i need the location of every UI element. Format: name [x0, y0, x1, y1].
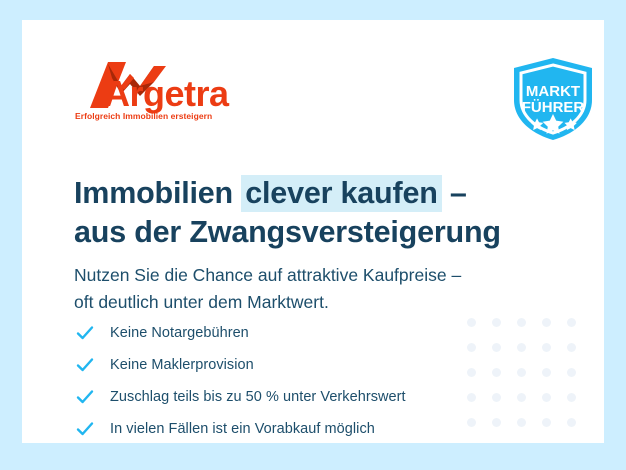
- subtitle: Nutzen Sie die Chance auf attraktive Kau…: [74, 262, 574, 316]
- check-icon: [74, 354, 96, 376]
- list-item: Keine Maklerprovision: [74, 350, 544, 380]
- grid-dot: [567, 343, 576, 352]
- promo-banner: Argetra Erfolgreich Immobilien ersteiger…: [0, 0, 626, 470]
- check-icon: [74, 386, 96, 408]
- logo-wordmark: Argetra: [104, 76, 229, 112]
- page-title: Immobilien clever kaufen – aus der Zwang…: [74, 174, 564, 251]
- grid-dot: [567, 393, 576, 402]
- subtitle-line-1: Nutzen Sie die Chance auf attraktive Kau…: [74, 262, 574, 289]
- list-item: Keine Notargebühren: [74, 318, 544, 348]
- subtitle-line-2: oft deutlich unter dem Marktwert.: [74, 289, 574, 316]
- headline-line-2: aus der Zwangsversteigerung: [74, 213, 564, 251]
- list-item: In vielen Fällen ist ein Vorabkauf mögli…: [74, 414, 544, 443]
- headline-highlight: clever kaufen: [241, 175, 441, 212]
- check-icon: [74, 418, 96, 440]
- list-item-label: Keine Notargebühren: [110, 325, 249, 341]
- grid-dot: [567, 418, 576, 427]
- argetra-logo[interactable]: Argetra Erfolgreich Immobilien ersteiger…: [74, 60, 274, 128]
- badge-line-1: MARKT: [526, 83, 580, 100]
- badge-line-2: FÜHRER: [522, 99, 585, 116]
- headline-part-before: Immobilien: [74, 176, 241, 210]
- grid-dot: [567, 318, 576, 327]
- banner-card: Argetra Erfolgreich Immobilien ersteiger…: [22, 20, 604, 443]
- list-item-label: Zuschlag teils bis zu 50 % unter Verkehr…: [110, 389, 406, 405]
- check-icon: [74, 322, 96, 344]
- grid-dot: [567, 368, 576, 377]
- headline-line-1: Immobilien clever kaufen –: [74, 174, 564, 212]
- list-item-label: Keine Maklerprovision: [110, 357, 254, 373]
- market-leader-badge: MARKT FÜHRER: [510, 56, 596, 142]
- headline-part-after: –: [442, 176, 467, 210]
- shield-icon: MARKT FÜHRER: [510, 56, 596, 142]
- logo-tagline: Erfolgreich Immobilien ersteigern: [75, 111, 212, 121]
- list-item-label: In vielen Fällen ist ein Vorabkauf mögli…: [110, 421, 375, 437]
- list-item: Zuschlag teils bis zu 50 % unter Verkehr…: [74, 382, 544, 412]
- benefits-list: Keine Notargebühren Keine Maklerprovisio…: [74, 318, 544, 443]
